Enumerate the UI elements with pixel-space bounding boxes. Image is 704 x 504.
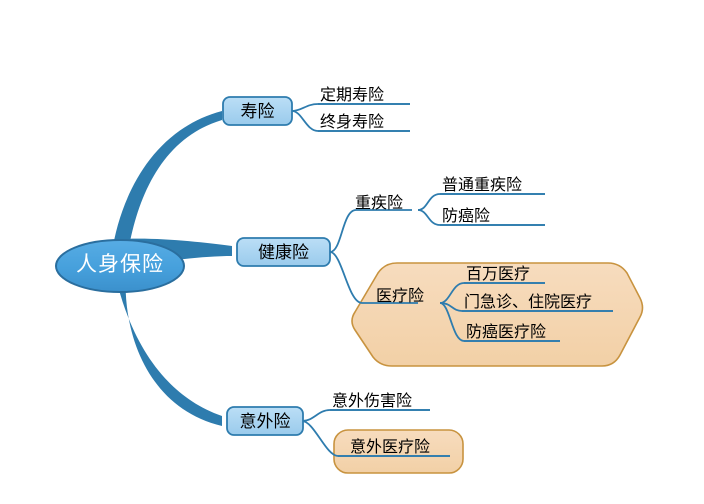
node-label-zhongjixian[interactable]: 重疾险 (355, 196, 403, 212)
node-label-jiankangxian[interactable]: 健康险 (237, 244, 330, 261)
node-label-yiliaoxian[interactable]: 医疗险 (376, 289, 424, 305)
leaf-label-yiwaishanghaixian[interactable]: 意外伤害险 (332, 394, 412, 410)
mind-map-graphics (0, 0, 704, 504)
leaf-label-baiwanyiliao[interactable]: 百万医疗 (466, 267, 530, 283)
connector-shouxian-dingqi (292, 104, 410, 111)
leaf-label-fangaixian[interactable]: 防癌险 (442, 209, 490, 225)
connector-jiankang-zhongji (330, 210, 412, 252)
leaf-label-fangaiyiliaoxian[interactable]: 防癌医疗险 (466, 325, 546, 341)
root-node-label[interactable]: 人身保险 (56, 254, 184, 275)
leaf-label-menjizhenzhuyuanyiliao[interactable]: 门急诊、住院医疗 (464, 295, 592, 311)
leaf-label-dingqishouxian[interactable]: 定期寿险 (320, 88, 384, 104)
connector-yiwai-shanghai (302, 410, 430, 421)
node-label-yiwaixian[interactable]: 意外险 (227, 413, 303, 430)
node-label-shouxian[interactable]: 寿险 (223, 103, 292, 120)
leaf-label-putongzhongjixian[interactable]: 普通重疾险 (442, 178, 522, 194)
leaf-label-yiwaiyiliaoxian[interactable]: 意外医疗险 (350, 440, 430, 456)
mind-map-canvas: 人身保险 寿险 定期寿险 终身寿险 健康险 重疾险 普通重疾险 防癌险 医疗险 … (0, 0, 704, 504)
level1-node-boxes (223, 97, 330, 435)
leaf-label-zhongshenshouxian[interactable]: 终身寿险 (320, 115, 384, 131)
